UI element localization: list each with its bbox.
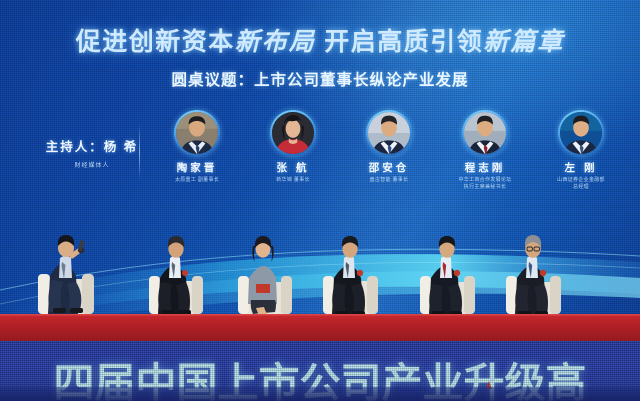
avatar-zuo-gang: [560, 112, 602, 154]
panelist-title: 新华锦 董事长: [248, 177, 338, 184]
panelist-seat-4: [420, 236, 475, 320]
title-segment-cursive-1: 新布局: [235, 29, 316, 56]
panelist-card: 陶家晋 太原重工 副董事长: [152, 110, 242, 184]
banner-lower-strip: [0, 387, 640, 401]
event-subtitle-topic: 圆桌议题：上市公司董事长纵论产业发展: [0, 68, 640, 90]
panelist-name: 左 刚: [536, 160, 626, 175]
avatar-shao-ancang: [368, 112, 410, 154]
avatar-ring: [270, 110, 316, 156]
avatar-ring: [558, 110, 604, 156]
host-block: 主持人：杨 希 财经媒体人: [44, 136, 140, 169]
panelist-seat-3: [323, 236, 378, 320]
panelist-title-line: 山西证券企业金融部: [536, 177, 626, 184]
avatar-tao-jiajin: [176, 112, 218, 154]
panelist-title: 太原重工 副董事长: [152, 177, 242, 184]
host-name: 主持人：杨 希: [44, 136, 140, 155]
panelist-title-line: 盘古智能 董事长: [344, 177, 434, 184]
panelist-card: 邵安仓 盘古智能 董事长: [344, 110, 434, 184]
panelist-title-line: 中华工商合作发展论坛: [440, 177, 530, 184]
panelist-seat-5: [506, 235, 561, 320]
avatar-ring: [462, 110, 508, 156]
conference-stage-photo: 促进创新资本新布局 开启高质引领新篇章 圆桌议题：上市公司董事长纵论产业发展 主…: [0, 0, 640, 401]
event-main-title: 促进创新资本新布局 开启高质引领新篇章: [0, 22, 640, 58]
red-carpet-stage-floor: [0, 316, 640, 341]
panelist-name: 程志刚: [440, 160, 530, 175]
panelist-title-line: 新华锦 董事长: [248, 177, 338, 184]
panelist-seat-1: [149, 236, 203, 320]
avatar-zhang-hang: [272, 112, 314, 154]
stage-seating-area: [0, 196, 640, 332]
title-segment-2: 开启高质引领: [324, 28, 483, 56]
panelist-title: 中华工商合作发展论坛 执行主席兼秘书长: [440, 177, 530, 191]
panelist-title-line: 执行主席兼秘书长: [440, 184, 530, 191]
title-segment-cursive-2: 新篇章: [483, 29, 564, 56]
panelist-name: 邵安仓: [344, 160, 434, 175]
host-panelists-divider: [139, 124, 140, 180]
bottom-led-banner: 四届中国上市公司产业升级高: [0, 341, 640, 401]
panelist-title: 盘古智能 董事长: [344, 177, 434, 184]
panelist-title-line: 总经理: [536, 184, 626, 191]
panelist-card: 程志刚 中华工商合作发展论坛 执行主席兼秘书长: [440, 110, 530, 191]
avatar-ring: [174, 110, 220, 156]
panelist-card: 左 刚 山西证券企业金融部 总经理: [536, 110, 626, 191]
panelist-card-row: 陶家晋 太原重工 副董事长 张 航 新华锦 董事长: [152, 110, 626, 191]
seated-panel-figures: [0, 196, 640, 332]
panelist-title-line: 太原重工 副董事长: [152, 177, 242, 184]
host-role: 财经媒体人: [44, 160, 140, 169]
avatar-cheng-zhigang: [464, 112, 506, 154]
panelist-name: 张 航: [248, 160, 338, 175]
title-segment-1: 促进创新资本: [76, 28, 235, 56]
avatar-ring: [366, 110, 412, 156]
panelist-title: 山西证券企业金融部 总经理: [536, 177, 626, 191]
panelist-card: 张 航 新华锦 董事长: [248, 110, 338, 184]
moderator-with-microphone: [38, 235, 94, 320]
panelist-name: 陶家晋: [152, 160, 242, 175]
